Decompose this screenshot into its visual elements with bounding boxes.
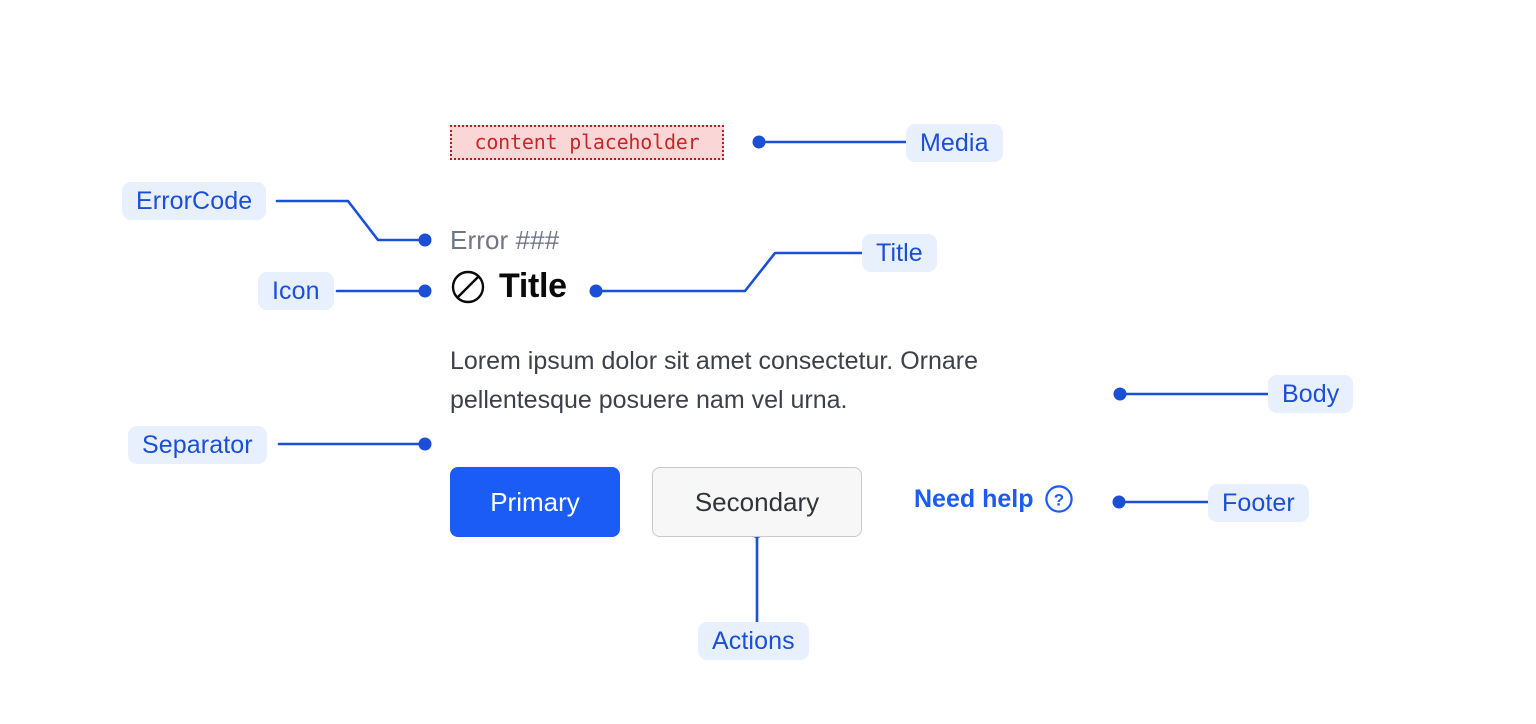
connector-dot-title bbox=[590, 285, 603, 298]
connector-dot-separator bbox=[419, 438, 432, 451]
annotation-label-icon[interactable]: Icon bbox=[258, 272, 334, 310]
annotation-label-separator[interactable]: Separator bbox=[128, 426, 267, 464]
connector-dot-icon bbox=[419, 285, 432, 298]
svg-text:?: ? bbox=[1054, 490, 1064, 509]
connector-dot-body bbox=[1114, 388, 1127, 401]
connector-dot-media bbox=[753, 136, 766, 149]
connector-dot-footer bbox=[1113, 496, 1126, 509]
annotation-label-title[interactable]: Title bbox=[862, 234, 937, 272]
media-content-placeholder: content placeholder bbox=[450, 125, 724, 160]
secondary-button[interactable]: Secondary bbox=[652, 467, 862, 537]
block-circle-slash-icon bbox=[450, 269, 486, 305]
annotation-label-media[interactable]: Media bbox=[906, 124, 1003, 162]
annotated-error-state-spec: content placeholder Error ### Title Lore… bbox=[0, 0, 1536, 724]
page-title: Title bbox=[499, 267, 567, 306]
connector-errorcode bbox=[277, 201, 422, 240]
error-code-text: Error ### bbox=[450, 225, 559, 256]
need-help-link[interactable]: Need help ? bbox=[914, 484, 1074, 514]
primary-button[interactable]: Primary bbox=[450, 467, 620, 537]
question-circle-icon[interactable]: ? bbox=[1044, 484, 1074, 514]
annotation-label-errorcode[interactable]: ErrorCode bbox=[122, 182, 266, 220]
connector-dot-errorcode bbox=[419, 234, 432, 247]
annotation-label-actions[interactable]: Actions bbox=[698, 622, 809, 660]
connector-title bbox=[598, 253, 862, 291]
annotation-label-body[interactable]: Body bbox=[1268, 375, 1353, 413]
title-row: Title bbox=[450, 267, 567, 306]
need-help-label: Need help bbox=[914, 485, 1033, 514]
annotation-label-footer[interactable]: Footer bbox=[1208, 484, 1309, 522]
body-text: Lorem ipsum dolor sit amet consectetur. … bbox=[450, 342, 1100, 420]
